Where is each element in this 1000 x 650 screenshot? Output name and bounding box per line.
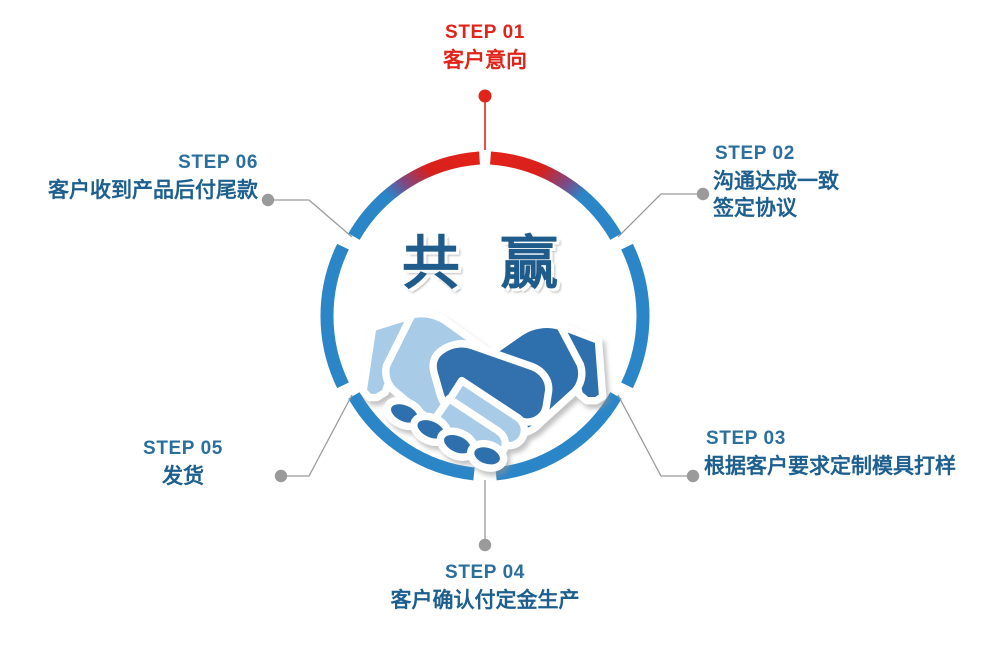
step-text-04: 客户确认付定金生产 (385, 589, 585, 614)
step-label-04[interactable]: STEP 04 客户确认付定金生产 (385, 562, 585, 614)
step-number-02: STEP 02 (715, 143, 963, 165)
step-text-04-line1: 客户确认付定金生产 (391, 589, 580, 612)
step-number-04: STEP 04 (385, 562, 585, 584)
step-number-05: STEP 05 (108, 438, 258, 460)
step-text-06-line1: 客户收到产品后付尾款 (48, 179, 258, 202)
step-number-03: STEP 03 (706, 428, 989, 450)
handshake-icon (0, 0, 1000, 650)
step-label-02[interactable]: STEP 02 沟通达成一致 签定协议 (713, 143, 963, 222)
step-text-01-line1: 客户意向 (443, 49, 527, 72)
step-text-02: 沟通达成一致 签定协议 (713, 170, 963, 222)
infographic-canvas: 共 赢 STEP 01 客户意向 STEP 02 沟通达成一致 签定协议 STE… (0, 0, 1000, 650)
step-label-01[interactable]: STEP 01 客户意向 (385, 22, 585, 74)
step-label-06[interactable]: STEP 06 客户收到产品后付尾款 (18, 152, 258, 204)
step-text-03: 根据客户要求定制模具打样 (704, 455, 989, 480)
step-text-05-line1: 发货 (162, 465, 204, 488)
step-label-05[interactable]: STEP 05 发货 (108, 438, 258, 490)
step-text-01: 客户意向 (385, 49, 585, 74)
center-title: 共 赢 (380, 216, 590, 300)
step-text-05: 发货 (108, 465, 258, 490)
step-text-03-line1: 根据客户要求定制模具打样 (704, 455, 956, 478)
step-text-02-line2: 签定协议 (713, 197, 963, 222)
step-text-02-line1: 沟通达成一致 (713, 170, 839, 193)
step-number-06: STEP 06 (18, 152, 258, 174)
step-label-03[interactable]: STEP 03 根据客户要求定制模具打样 (704, 428, 989, 480)
step-number-01: STEP 01 (385, 22, 585, 44)
step-text-06: 客户收到产品后付尾款 (18, 179, 258, 204)
